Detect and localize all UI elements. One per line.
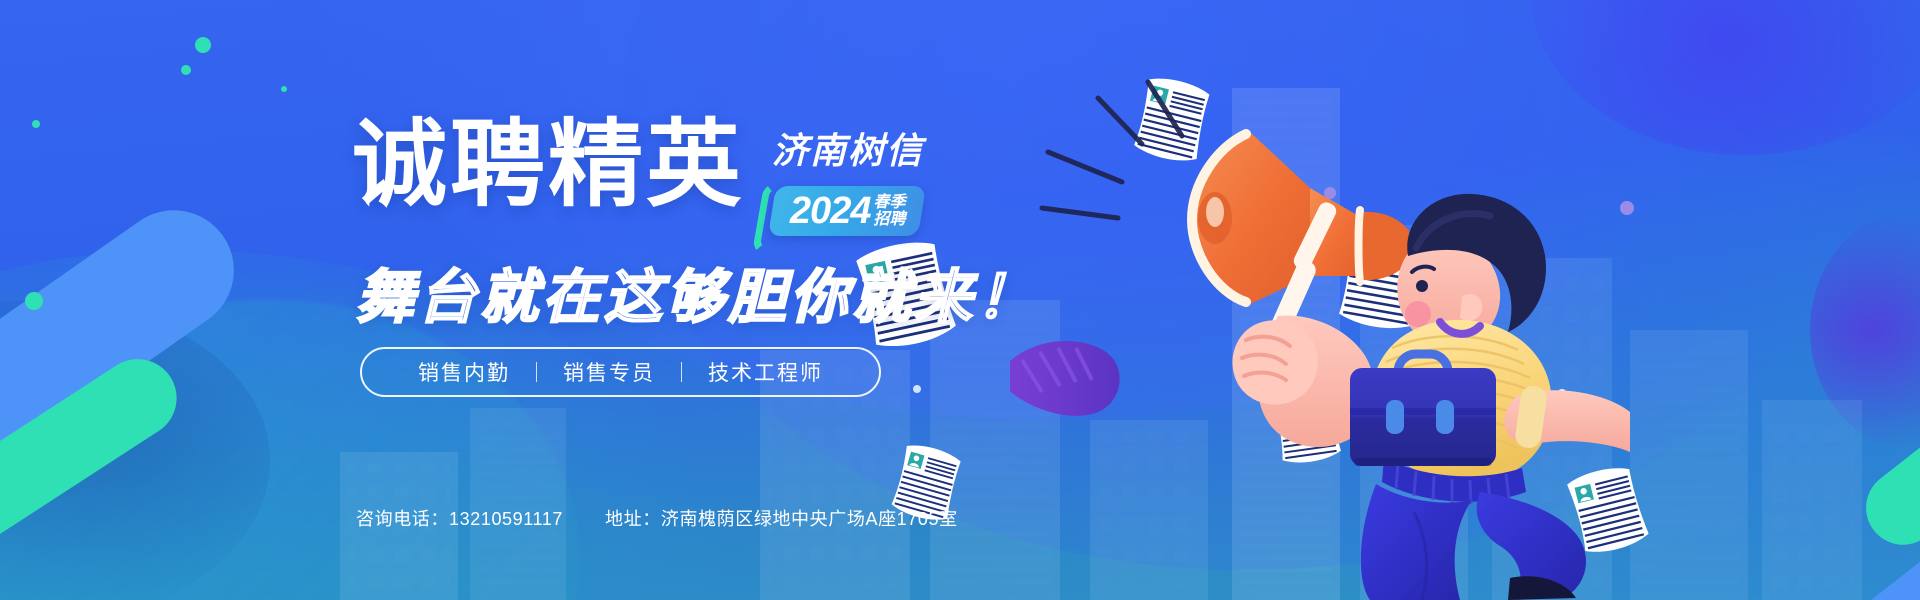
contact-phone-label: 咨询电话：: [356, 509, 449, 529]
contact-address: 地址：济南槐荫区绿地中央广场A座1705室: [605, 505, 958, 531]
badge-inner: 2024 春季 招聘: [790, 190, 906, 233]
banner-content: 诚聘精英 济南树信 2024 春季 招聘: [0, 0, 1920, 600]
position-item-2[interactable]: 技术工程师: [682, 357, 849, 387]
subtitle: 舞台就在这够胆你就来！: [356, 250, 1038, 334]
page-title: 诚聘精英: [352, 118, 744, 213]
position-item-1[interactable]: 销售专员: [537, 357, 681, 387]
contact-address-label: 地址：: [605, 509, 661, 529]
badge-season-line1: 春季: [874, 195, 906, 211]
season-badge: 2024 春季 招聘: [760, 186, 922, 236]
position-item-0[interactable]: 销售内勤: [392, 357, 536, 387]
headline-row: 诚聘精英 济南树信 2024 春季 招聘: [352, 118, 924, 236]
brand-badge-column: 济南树信 2024 春季 招聘: [760, 122, 924, 236]
contact-address-value: 济南槐荫区绿地中央广场A座1705室: [661, 509, 958, 529]
badge-body: 2024 春季 招聘: [768, 186, 925, 236]
contact-phone: 咨询电话：13210591117: [356, 505, 563, 531]
positions-pill: 销售内勤 销售专员 技术工程师: [360, 347, 881, 397]
badge-year: 2024: [790, 190, 871, 233]
contact-row: 咨询电话：13210591117 地址：济南槐荫区绿地中央广场A座1705室: [356, 505, 958, 531]
contact-phone-value: 13210591117: [449, 509, 563, 529]
badge-season: 春季 招聘: [874, 195, 906, 228]
badge-season-line2: 招聘: [874, 211, 906, 227]
company-name: 济南树信: [772, 122, 924, 174]
recruitment-banner: 诚聘精英 济南树信 2024 春季 招聘: [0, 0, 1920, 600]
